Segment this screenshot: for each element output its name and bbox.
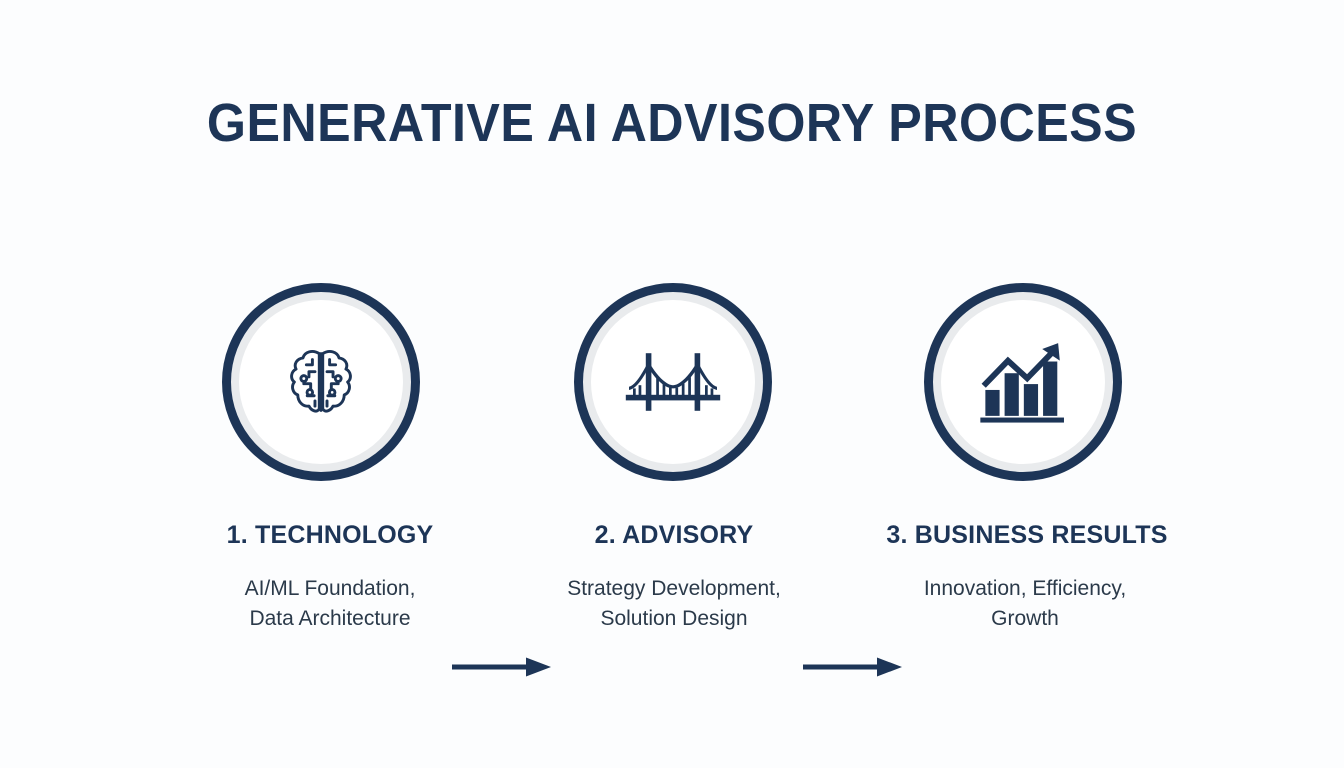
step-2-description-line-2: Solution Design <box>474 604 874 634</box>
step-captions: 1. TECHNOLOGY AI/ML Foundation, Data Arc… <box>0 520 1344 660</box>
step-1-heading: 1. TECHNOLOGY <box>130 520 530 550</box>
step-1-caption: 1. TECHNOLOGY AI/ML Foundation, Data Arc… <box>130 520 530 634</box>
step-1-description: AI/ML Foundation, Data Architecture <box>130 574 530 634</box>
process-flow <box>0 283 1344 483</box>
step-1-description-line-2: Data Architecture <box>130 604 530 634</box>
bridge-icon <box>574 283 772 481</box>
step-3-description-line-1: Innovation, Efficiency, <box>823 574 1227 604</box>
step-1-description-line-1: AI/ML Foundation, <box>130 574 530 604</box>
process-step-1-node[interactable] <box>222 283 420 481</box>
process-step-3-node[interactable] <box>924 283 1122 481</box>
process-step-2-node[interactable] <box>574 283 772 481</box>
step-2-description: Strategy Development, Solution Design <box>474 574 874 634</box>
step-3-description: Innovation, Efficiency, Growth <box>823 574 1227 634</box>
slide-canvas: GENERATIVE AI ADVISORY PROCESS <box>0 0 1344 768</box>
growth-bar-chart-icon <box>924 283 1122 481</box>
brain-icon <box>222 283 420 481</box>
step-2-caption: 2. ADVISORY Strategy Development, Soluti… <box>474 520 874 634</box>
step-2-description-line-1: Strategy Development, <box>474 574 874 604</box>
page-title: GENERATIVE AI ADVISORY PROCESS <box>47 92 1297 154</box>
step-3-heading: 3. BUSINESS RESULTS <box>827 520 1227 550</box>
step-3-description-line-2: Growth <box>823 604 1227 634</box>
step-2-heading: 2. ADVISORY <box>474 520 874 550</box>
step-3-caption: 3. BUSINESS RESULTS Innovation, Efficien… <box>827 520 1227 634</box>
